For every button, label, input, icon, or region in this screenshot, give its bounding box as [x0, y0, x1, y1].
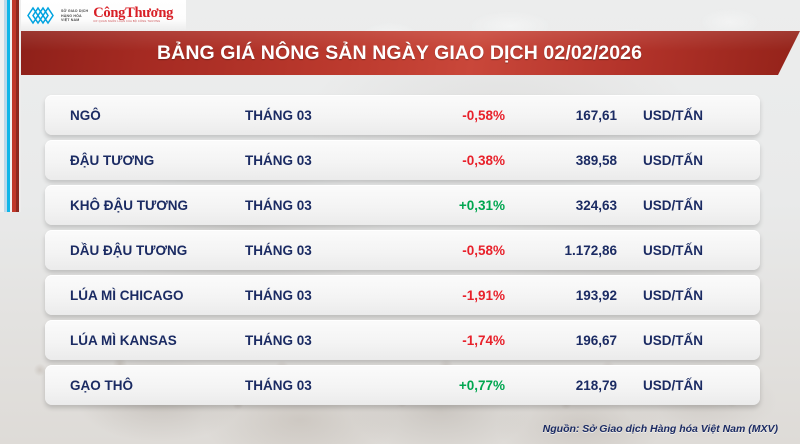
- publisher-tagline: CƠ QUAN NGÔN LUẬN CỦA BỘ CÔNG THƯƠNG: [93, 21, 173, 24]
- commodity-name: ĐẬU TƯƠNG: [45, 153, 245, 168]
- page-title: BẢNG GIÁ NÔNG SẢN NGÀY GIAO DỊCH 02/02/2…: [21, 31, 778, 75]
- contract-month: THÁNG 03: [245, 243, 390, 258]
- price-value: 167,61: [505, 108, 625, 123]
- commodity-name: DẦU ĐẬU TƯƠNG: [45, 243, 245, 258]
- price-value: 324,63: [505, 198, 625, 213]
- cong-thuong-logo: CôngThương CƠ QUAN NGÔN LUẬN CỦA BỘ CÔNG…: [93, 6, 173, 25]
- price-unit: USD/TẤN: [625, 333, 745, 348]
- source-note: Nguồn: Sở Giao dịch Hàng hóa Việt Nam (M…: [543, 423, 778, 435]
- infographic-page: SỞ GIAO DỊCH HÀNG HÓA VIỆT NAM CôngThươn…: [0, 0, 800, 444]
- price-unit: USD/TẤN: [625, 153, 745, 168]
- table-row[interactable]: GẠO THÔTHÁNG 03+0,77%218,79USD/TẤN: [45, 365, 760, 405]
- table-row[interactable]: LÚA MÌ KANSASTHÁNG 03-1,74%196,67USD/TẤN: [45, 320, 760, 360]
- commodity-name: GẠO THÔ: [45, 378, 245, 393]
- table-row[interactable]: LÚA MÌ CHICAGOTHÁNG 03-1,91%193,92USD/TẤ…: [45, 275, 760, 315]
- mxv-logo-text: SỞ GIAO DỊCH HÀNG HÓA VIỆT NAM: [61, 8, 88, 23]
- contract-month: THÁNG 03: [245, 153, 390, 168]
- price-change-percent: +0,77%: [390, 378, 505, 393]
- commodity-name: KHÔ ĐẬU TƯƠNG: [45, 198, 245, 213]
- price-value: 193,92: [505, 288, 625, 303]
- contract-month: THÁNG 03: [245, 198, 390, 213]
- price-unit: USD/TẤN: [625, 378, 745, 393]
- table-row[interactable]: ĐẬU TƯƠNGTHÁNG 03-0,38%389,58USD/TẤN: [45, 140, 760, 180]
- table-row[interactable]: NGÔTHÁNG 03-0,58%167,61USD/TẤN: [45, 95, 760, 135]
- commodity-name: LÚA MÌ CHICAGO: [45, 288, 245, 303]
- commodity-name: LÚA MÌ KANSAS: [45, 333, 245, 348]
- price-value: 196,67: [505, 333, 625, 348]
- contract-month: THÁNG 03: [245, 108, 390, 123]
- price-change-percent: -0,38%: [390, 153, 505, 168]
- contract-month: THÁNG 03: [245, 288, 390, 303]
- table-row[interactable]: KHÔ ĐẬU TƯƠNGTHÁNG 03+0,31%324,63USD/TẤN: [45, 185, 760, 225]
- price-change-percent: +0,31%: [390, 198, 505, 213]
- price-change-percent: -1,74%: [390, 333, 505, 348]
- price-change-percent: -1,91%: [390, 288, 505, 303]
- price-unit: USD/TẤN: [625, 198, 745, 213]
- price-value: 1.172,86: [505, 243, 625, 258]
- price-unit: USD/TẤN: [625, 108, 745, 123]
- price-change-percent: -0,58%: [390, 108, 505, 123]
- title-banner: BẢNG GIÁ NÔNG SẢN NGÀY GIAO DỊCH 02/02/2…: [21, 31, 800, 75]
- commodity-price-table: NGÔTHÁNG 03-0,58%167,61USD/TẤNĐẬU TƯƠNGT…: [45, 95, 760, 410]
- contract-month: THÁNG 03: [245, 333, 390, 348]
- price-value: 389,58: [505, 153, 625, 168]
- publisher-name: CôngThương: [93, 6, 173, 21]
- commodity-name: NGÔ: [45, 108, 245, 123]
- price-value: 218,79: [505, 378, 625, 393]
- table-row[interactable]: DẦU ĐẬU TƯƠNGTHÁNG 03-0,58%1.172,86USD/T…: [45, 230, 760, 270]
- logo-bar: SỞ GIAO DỊCH HÀNG HÓA VIỆT NAM CôngThươn…: [21, 0, 186, 31]
- mxv-logo-icon: [26, 5, 56, 26]
- price-change-percent: -0,58%: [390, 243, 505, 258]
- price-unit: USD/TẤN: [625, 243, 745, 258]
- contract-month: THÁNG 03: [245, 378, 390, 393]
- price-unit: USD/TẤN: [625, 288, 745, 303]
